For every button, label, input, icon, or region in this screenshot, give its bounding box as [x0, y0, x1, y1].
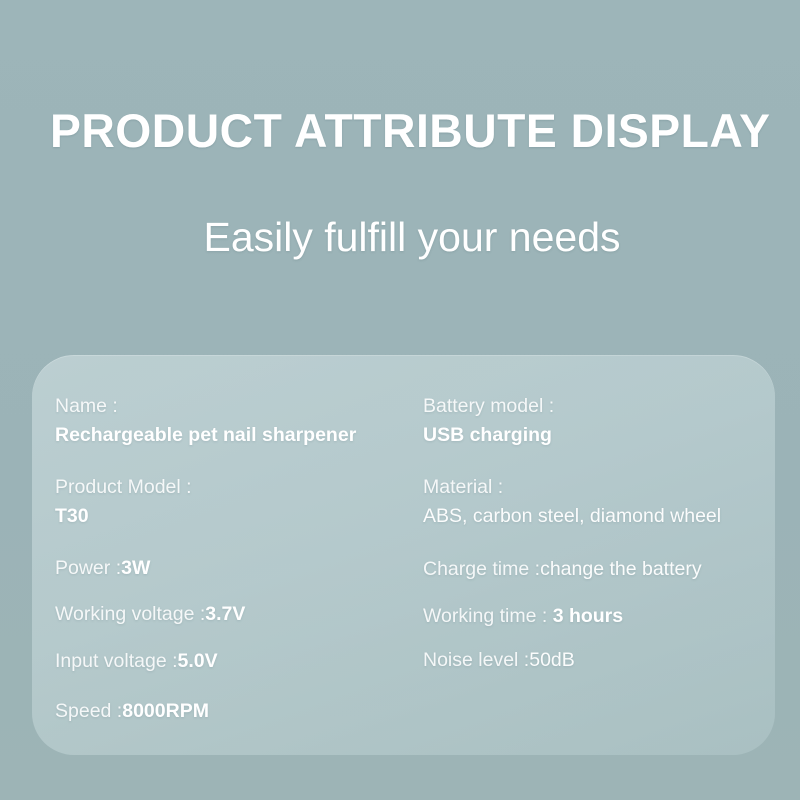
- spec-row-working-voltage: Working voltage :3.7V: [55, 601, 245, 627]
- spec-label-charge-time: Charge time :: [423, 558, 540, 580]
- spec-row-noise-level: Noise level :50dB: [423, 647, 575, 673]
- spec-value-material: ABS, carbon steel, diamond wheel: [423, 503, 721, 529]
- spec-row-power: Power :3W: [55, 555, 150, 581]
- spec-label-material: Material :: [423, 474, 721, 500]
- spec-label-battery-model: Battery model :: [423, 393, 554, 419]
- product-attribute-poster: PRODUCT ATTRIBUTE DISPLAY Easily fulfill…: [0, 0, 800, 800]
- specification-columns: Name : Rechargeable pet nail sharpener P…: [32, 355, 775, 755]
- spec-label-working-time: Working time :: [423, 605, 547, 627]
- spec-value-speed: 8000RPM: [122, 700, 209, 722]
- spec-row-product-model: Product Model : T30: [55, 474, 192, 529]
- spec-label-name: Name :: [55, 393, 356, 419]
- spec-label-noise-level: Noise level :: [423, 649, 529, 671]
- spec-label-product-model: Product Model :: [55, 474, 192, 500]
- spec-value-input-voltage: 5.0V: [178, 650, 218, 672]
- spec-value-power: 3W: [121, 557, 150, 579]
- spec-label-speed: Speed :: [55, 700, 122, 722]
- spec-value-name: Rechargeable pet nail sharpener: [55, 422, 356, 448]
- spec-value-battery-model: USB charging: [423, 422, 554, 448]
- specification-column-right: Battery model : USB charging Material : …: [423, 355, 768, 755]
- spec-row-charge-time: Charge time :change the battery: [423, 556, 702, 582]
- spec-value-product-model: T30: [55, 503, 192, 529]
- spec-label-working-voltage: Working voltage :: [55, 603, 205, 625]
- spec-value-noise-level: 50dB: [529, 649, 575, 671]
- spec-label-power: Power :: [55, 557, 121, 579]
- spec-row-battery-model: Battery model : USB charging: [423, 393, 554, 448]
- page-title: PRODUCT ATTRIBUTE DISPLAY: [50, 105, 763, 157]
- specification-column-left: Name : Rechargeable pet nail sharpener P…: [55, 355, 425, 755]
- spec-value-working-voltage: 3.7V: [205, 603, 245, 625]
- spec-row-working-time: Working time : 3 hours: [423, 603, 623, 629]
- spec-value-working-time: 3 hours: [553, 605, 623, 627]
- spec-row-material: Material : ABS, carbon steel, diamond wh…: [423, 474, 721, 529]
- spec-value-charge-time: change the battery: [540, 558, 702, 580]
- spec-row-input-voltage: Input voltage :5.0V: [55, 648, 218, 674]
- specification-card: Name : Rechargeable pet nail sharpener P…: [32, 355, 775, 755]
- spec-row-speed: Speed :8000RPM: [55, 698, 209, 724]
- page-subtitle: Easily fulfill your needs: [50, 212, 774, 262]
- spec-label-input-voltage: Input voltage :: [55, 650, 178, 672]
- spec-row-name: Name : Rechargeable pet nail sharpener: [55, 393, 356, 448]
